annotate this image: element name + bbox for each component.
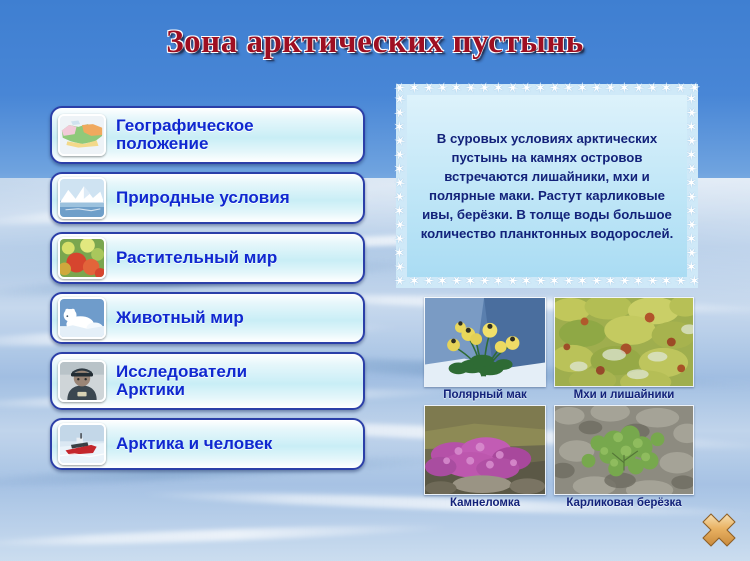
- close-button[interactable]: [700, 511, 738, 549]
- photo-caption: Полярный мак: [424, 389, 546, 401]
- tundra-flora-thumb-icon: [58, 237, 106, 279]
- snowflake-icon: ✶: [492, 81, 505, 96]
- explorer-portrait-thumb-icon: [58, 360, 106, 402]
- snowflake-icon: ✶: [534, 81, 547, 96]
- polar-bear-thumb-icon: [58, 297, 106, 339]
- photo-cell-saxifrage[interactable]: Камнеломка: [424, 405, 546, 509]
- menu-item-fauna[interactable]: Животный мир: [50, 292, 365, 344]
- info-panel-body: В суровых условиях арктических пустынь н…: [407, 95, 687, 277]
- photo-caption: Мхи и лишайники: [554, 389, 694, 401]
- menu-item-label: Природные условия: [116, 189, 290, 207]
- menu-item-label: Географическое положение: [116, 117, 254, 154]
- snowflake-icon: ✶: [576, 81, 589, 96]
- snowflake-icon: ✶: [408, 81, 421, 96]
- photo-row-bottom: Камнеломка: [424, 405, 724, 509]
- menu-item-geographic-position[interactable]: Географическое положение: [50, 106, 365, 164]
- menu-label-line2: положение: [116, 134, 208, 153]
- menu-item-natural-conditions[interactable]: Природные условия: [50, 172, 365, 224]
- close-icon: [703, 514, 735, 546]
- saxifrage-photo: [424, 405, 546, 495]
- photo-caption: Карликовая берёзка: [554, 497, 694, 509]
- icebreaker-ship-thumb-icon: [58, 423, 106, 465]
- photo-cell-moss-lichen[interactable]: Мхи и лишайники: [554, 297, 694, 401]
- iceberg-thumb-icon: [58, 177, 106, 219]
- menu-label-line1: Географическое: [116, 116, 254, 135]
- russia-map-thumb-icon: [58, 114, 106, 156]
- menu-item-label: Исследователи Арктики: [116, 363, 247, 400]
- menu-label-line2: Арктики: [116, 380, 185, 399]
- photo-cell-polar-poppy[interactable]: Полярный мак: [424, 297, 546, 401]
- snowflake-icon: ✶: [618, 81, 631, 96]
- presentation-slide: Зона арктических пустынь Географическое …: [0, 0, 750, 561]
- photo-row-top: Полярный мак: [424, 297, 724, 401]
- snowflake-icon: ✶: [450, 81, 463, 96]
- info-panel: ✶✶✶✶✶✶✶✶✶✶✶✶✶✶✶✶✶✶✶✶✶✶✶✶✶✶✶✶✶✶✶✶✶✶✶✶✶✶✶✶…: [396, 84, 698, 288]
- menu-item-label: Арктика и человек: [116, 435, 272, 453]
- photo-caption: Камнеломка: [424, 497, 546, 509]
- info-panel-text: В суровых условиях арктических пустынь н…: [415, 129, 679, 243]
- snowflake-icon: ✶: [660, 81, 673, 96]
- navigation-menu: Географическое положение Природные услов…: [50, 106, 365, 478]
- photo-cell-dwarf-birch[interactable]: Карликовая берёзка: [554, 405, 694, 509]
- moss-lichen-photo: [554, 297, 694, 387]
- menu-item-label: Животный мир: [116, 309, 244, 327]
- slide-title: Зона арктических пустынь: [0, 24, 750, 61]
- polar-poppy-photo: [424, 297, 546, 387]
- menu-item-label: Растительный мир: [116, 249, 277, 267]
- dwarf-birch-photo: [554, 405, 694, 495]
- menu-item-flora[interactable]: Растительный мир: [50, 232, 365, 284]
- menu-label-line1: Исследователи: [116, 362, 247, 381]
- menu-item-arctic-and-human[interactable]: Арктика и человек: [50, 418, 365, 470]
- photo-gallery: Полярный мак: [424, 297, 724, 509]
- menu-item-explorers[interactable]: Исследователи Арктики: [50, 352, 365, 410]
